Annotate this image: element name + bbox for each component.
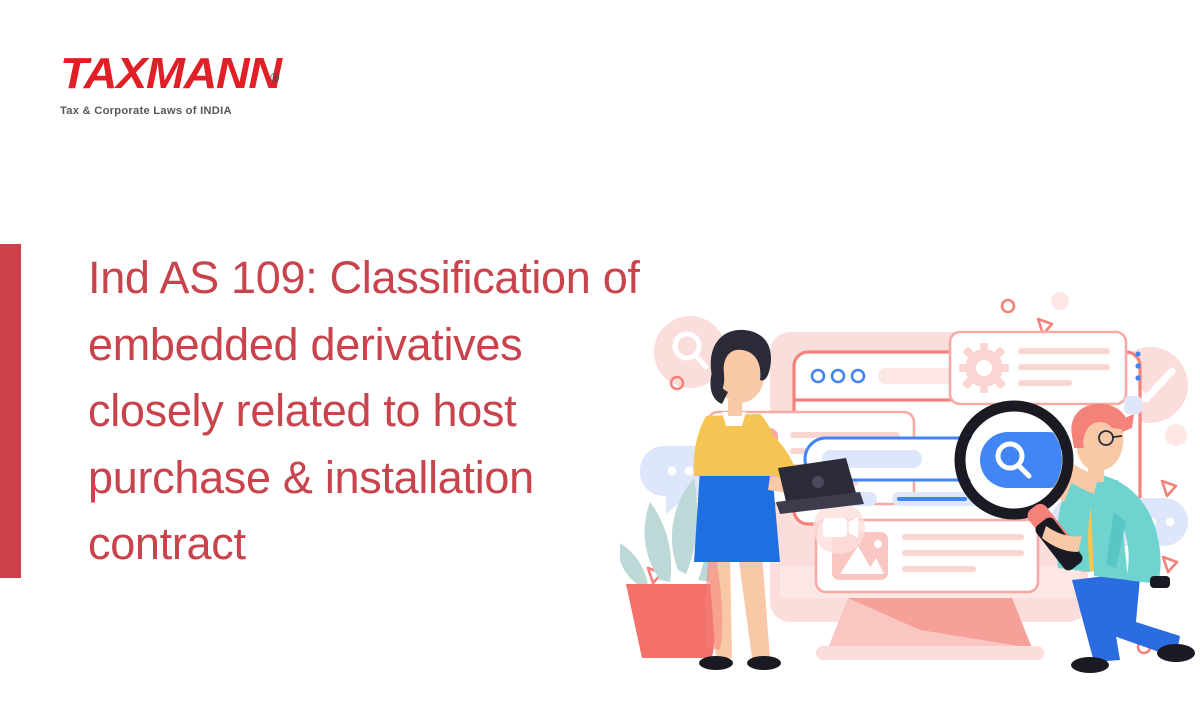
video-camera-icon (823, 517, 858, 538)
logo-wordmark: TAXMANN (60, 52, 281, 96)
decor-triangle (1163, 557, 1177, 572)
hero-illustration (620, 280, 1200, 680)
decor-triangle (1162, 481, 1176, 496)
gear-icon (959, 343, 1009, 393)
settings-card (950, 332, 1126, 404)
shoe (1157, 644, 1195, 662)
logo-tagline: Tax & Corporate Laws of INDIA (60, 105, 320, 117)
decor-dot (1165, 424, 1187, 446)
taxmann-logo[interactable]: TAXMANN® Tax & Corporate Laws of INDIA (60, 52, 320, 117)
shoe (747, 656, 781, 670)
browser-dot (832, 370, 844, 382)
logo-wordmark-row: TAXMANN® (60, 52, 320, 96)
left-accent-bar (0, 244, 21, 578)
decor-ring (1002, 300, 1014, 312)
skirt (694, 470, 780, 562)
banner-root: TAXMANN® Tax & Corporate Laws of INDIA I… (0, 0, 1200, 703)
registered-trademark-icon: ® (271, 70, 280, 85)
decor-dot (1051, 292, 1069, 310)
decor-dot (1124, 396, 1142, 414)
video-badge (813, 502, 865, 554)
shoe (1071, 657, 1109, 673)
shoe (699, 656, 733, 670)
browser-dot (812, 370, 824, 382)
kebab-menu-icon (1135, 351, 1140, 380)
browser-dot (852, 370, 864, 382)
page-title: Ind AS 109: Classification of embedded d… (88, 245, 668, 578)
